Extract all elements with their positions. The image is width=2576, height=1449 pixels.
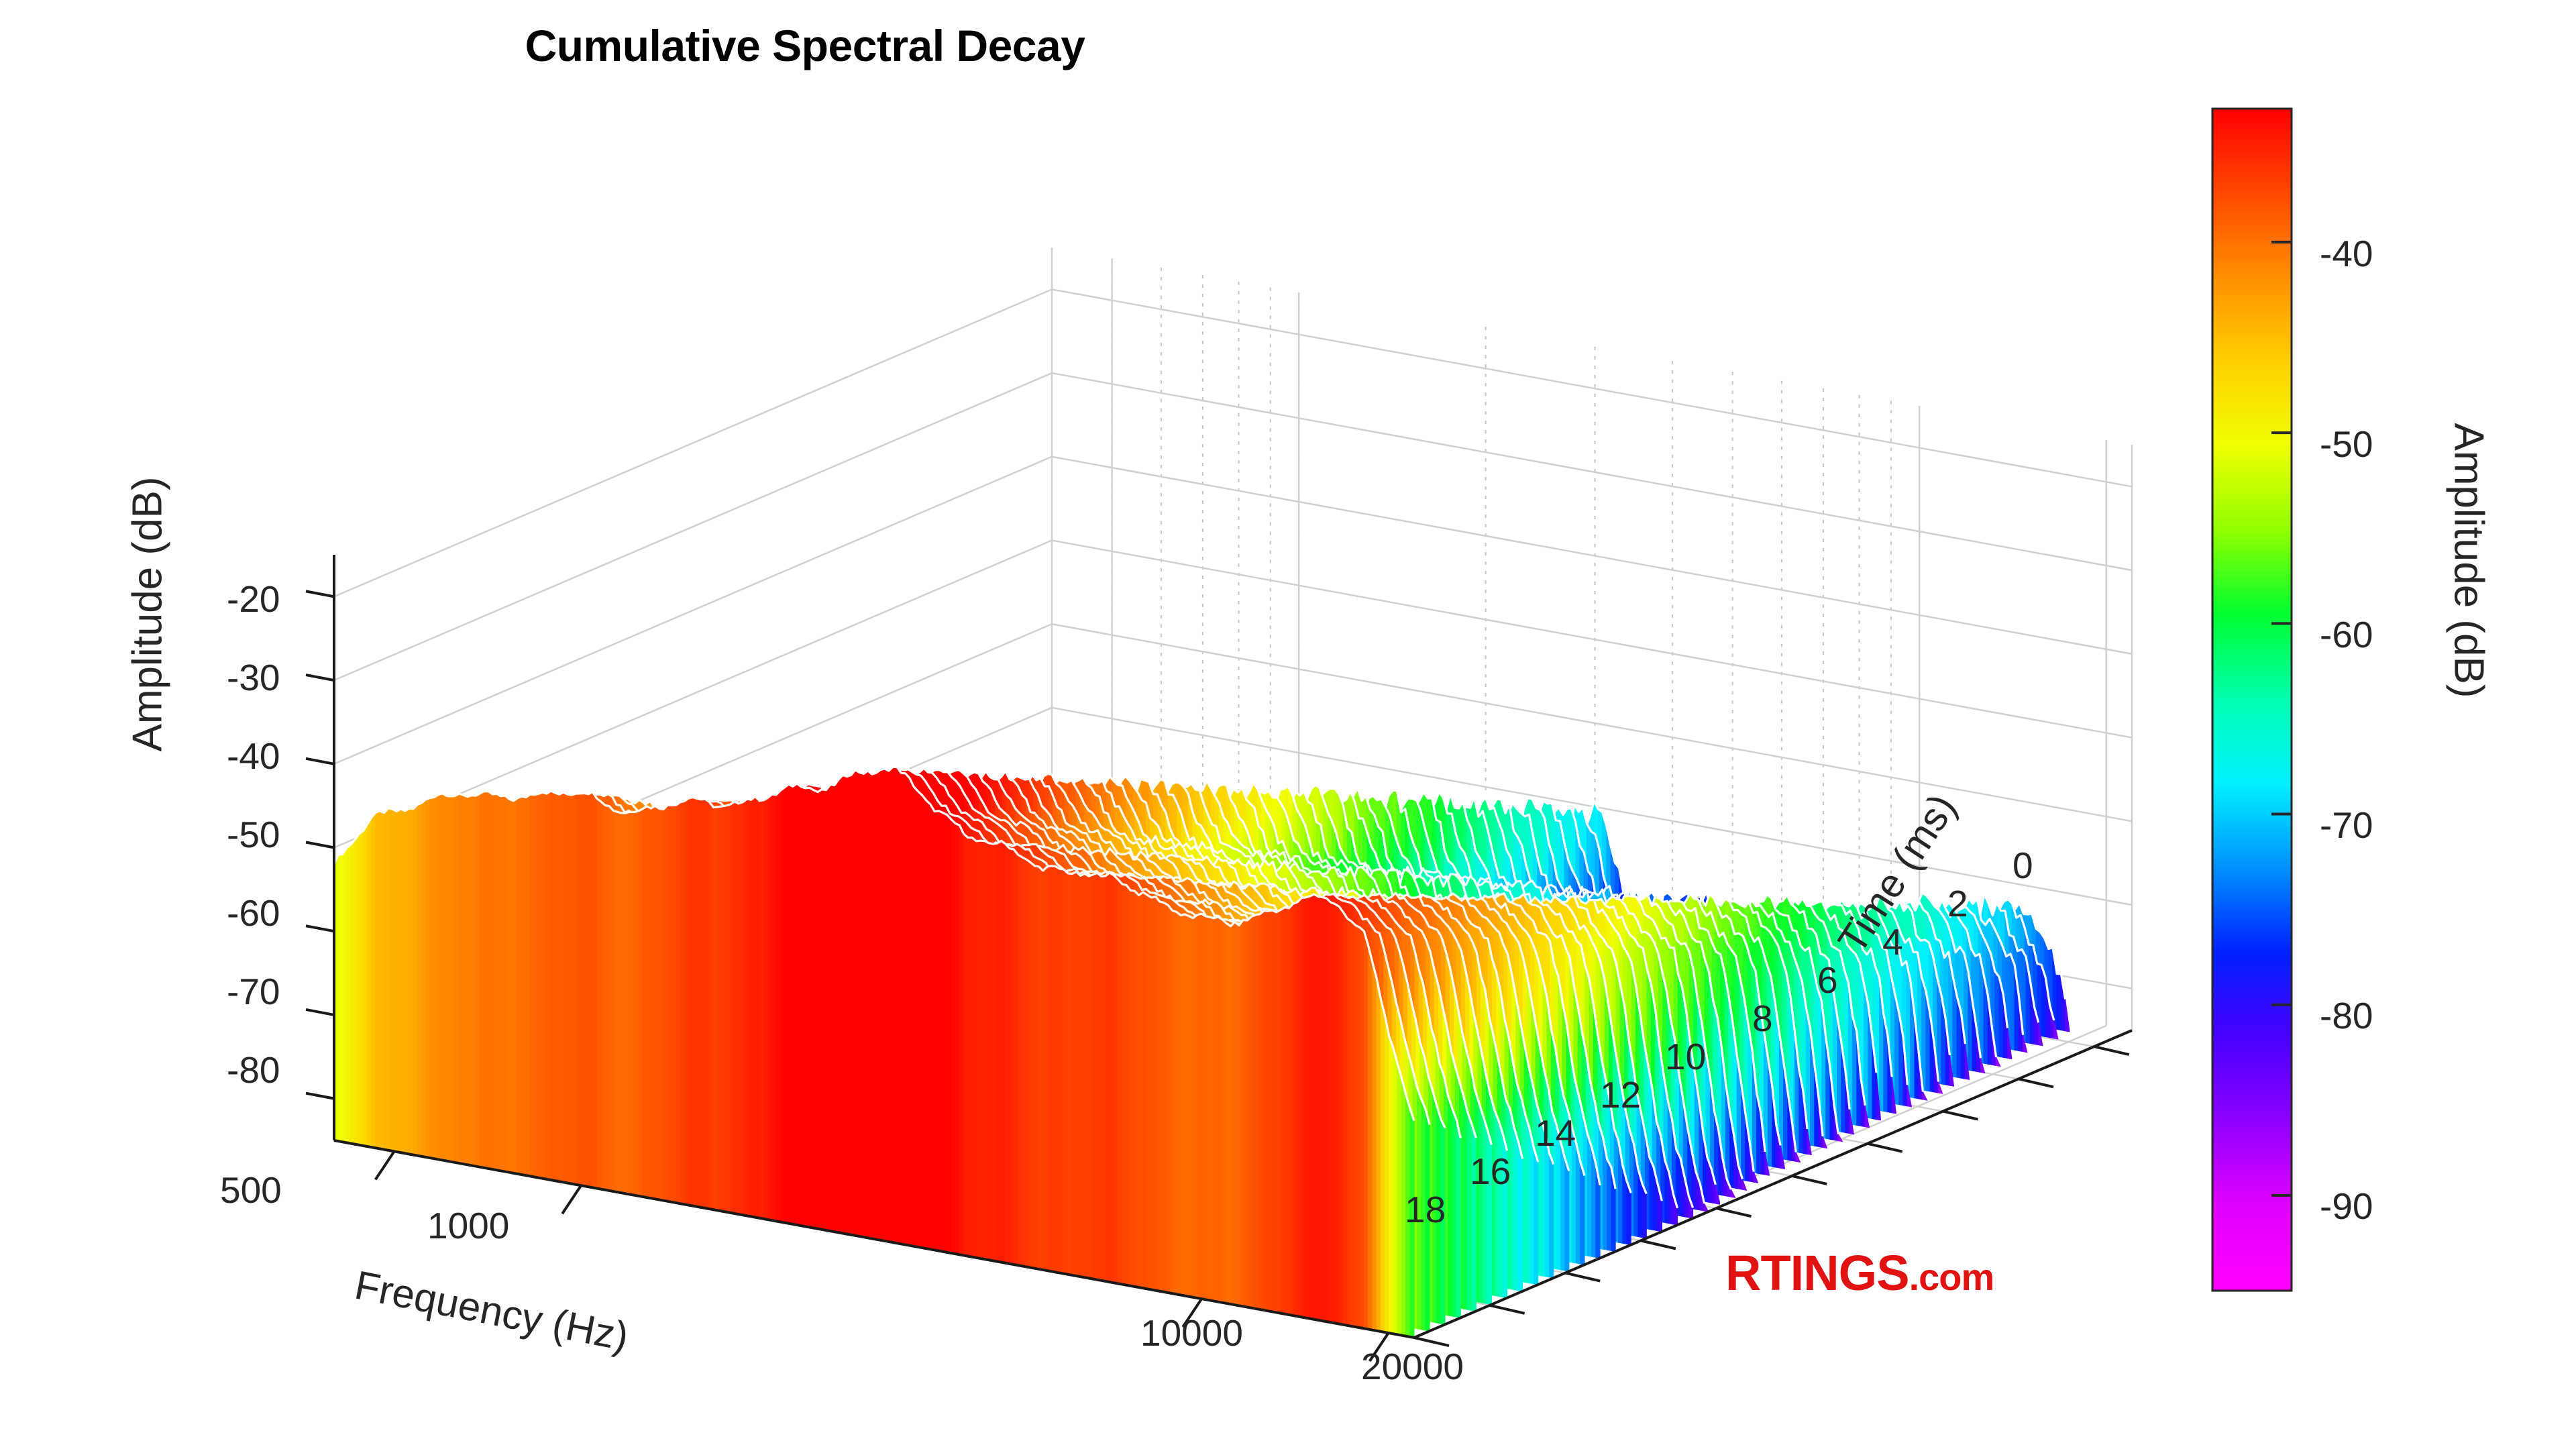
y-tick-2: 2 bbox=[1947, 882, 1968, 925]
z-tick-1: -30 bbox=[227, 656, 280, 699]
y-tick-6: 6 bbox=[1817, 959, 1838, 1002]
z-tick-4: -60 bbox=[227, 892, 280, 934]
z-tick-5: -70 bbox=[227, 970, 280, 1013]
z-tick-0: -20 bbox=[227, 578, 280, 621]
cb-tick-4: -80 bbox=[2320, 994, 2373, 1037]
z-axis-label: Amplitude (dB) bbox=[124, 413, 172, 816]
y-tick-14: 14 bbox=[1535, 1112, 1576, 1155]
y-tick-16: 16 bbox=[1470, 1150, 1511, 1193]
y-tick-10: 10 bbox=[1665, 1035, 1706, 1078]
watermark-name: RTINGS bbox=[1725, 1245, 1909, 1301]
colorbar-label: Amplitude (dB) bbox=[2445, 326, 2493, 796]
x-tick-20000: 20000 bbox=[1361, 1345, 1464, 1388]
chart-canvas: Cumulative Spectral Decay bbox=[0, 0, 2576, 1449]
cb-tick-5: -90 bbox=[2320, 1185, 2373, 1228]
z-tick-6: -80 bbox=[227, 1049, 280, 1091]
y-tick-4: 4 bbox=[1882, 920, 1903, 963]
z-tick-2: -40 bbox=[227, 735, 280, 777]
watermark: RTINGS.com bbox=[1725, 1244, 1994, 1301]
y-tick-8: 8 bbox=[1752, 997, 1773, 1040]
watermark-suffix: .com bbox=[1909, 1256, 1994, 1298]
y-tick-12: 12 bbox=[1600, 1073, 1641, 1116]
cb-tick-2: -60 bbox=[2320, 613, 2373, 656]
x-tick-10000: 10000 bbox=[1140, 1311, 1243, 1354]
cb-tick-0: -40 bbox=[2320, 232, 2373, 275]
colorbar bbox=[2212, 109, 2292, 1291]
x-tick-1000: 1000 bbox=[427, 1204, 509, 1247]
waterfall-surface-plot bbox=[0, 0, 2576, 1449]
z-tick-3: -50 bbox=[227, 813, 280, 856]
cb-tick-1: -50 bbox=[2320, 423, 2373, 466]
x-tick-500: 500 bbox=[220, 1169, 282, 1212]
cb-tick-3: -70 bbox=[2320, 804, 2373, 847]
y-tick-0: 0 bbox=[2012, 844, 2033, 887]
y-tick-18: 18 bbox=[1405, 1188, 1446, 1231]
